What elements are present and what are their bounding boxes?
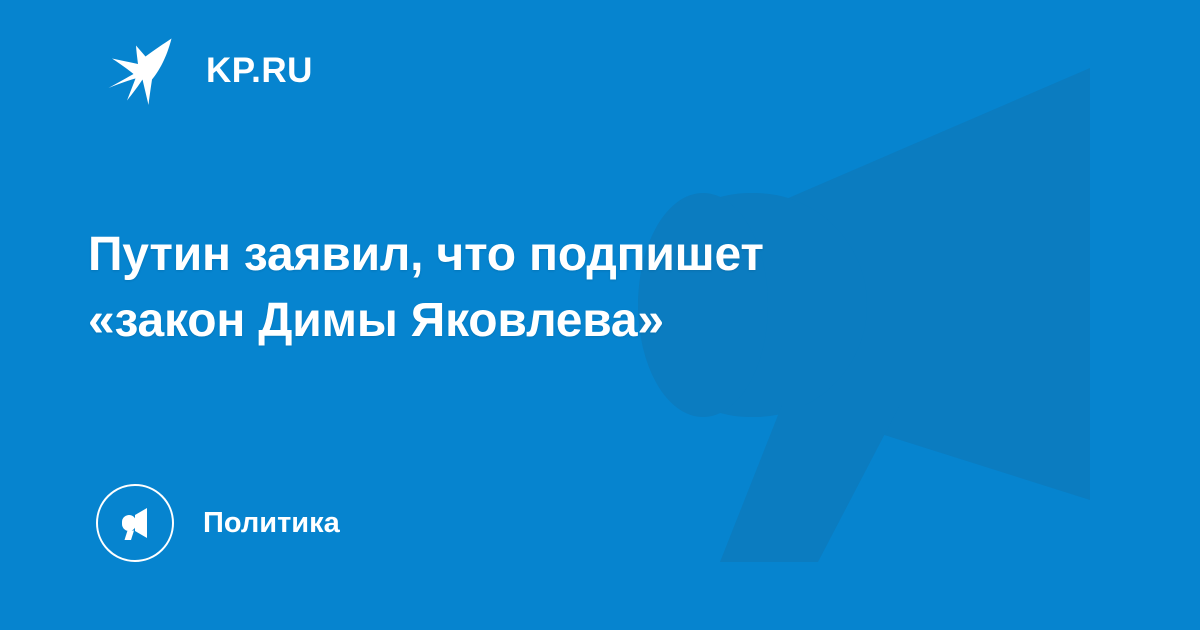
category-badge[interactable]: Политика	[96, 484, 340, 562]
page-title: Путин заявил, что подпишет «закон Димы Я…	[88, 222, 968, 354]
brand-header[interactable]: KP.RU	[106, 34, 313, 106]
megaphone-icon	[115, 503, 155, 543]
social-share-card: KP.RU Путин заявил, что подпишет «закон …	[0, 0, 1200, 630]
category-label: Политика	[203, 509, 340, 538]
swallow-bird-logo-icon	[106, 34, 180, 106]
category-icon-circle	[96, 484, 174, 562]
brand-name: KP.RU	[206, 53, 313, 88]
